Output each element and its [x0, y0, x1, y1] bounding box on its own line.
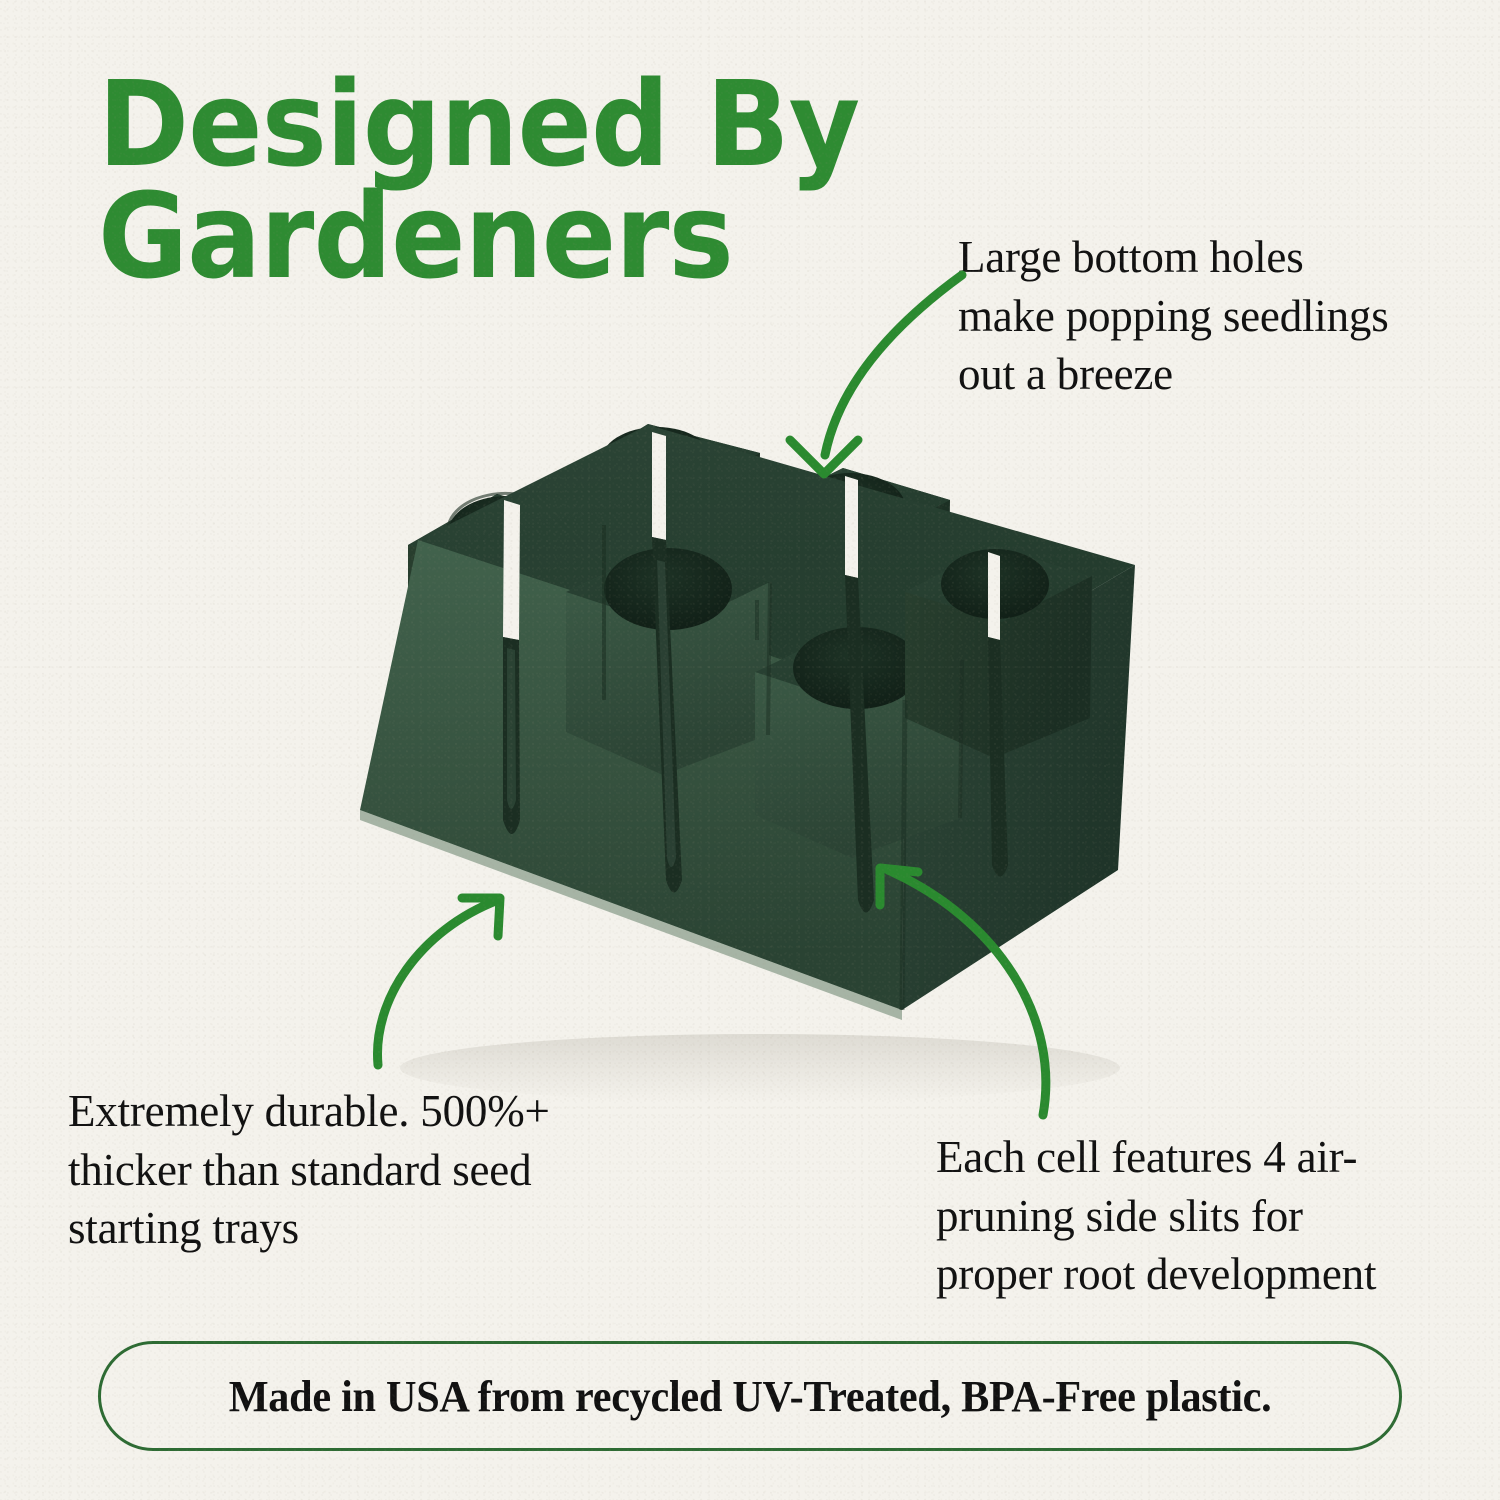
arrow-to-side-slit-shaft [888, 870, 1046, 1115]
infographic-canvas: Designed By Gardeners Large bottom holes… [0, 0, 1500, 1500]
annotation-arrows [0, 0, 1500, 1500]
arrow-to-bottom-hole-shaft [825, 275, 962, 455]
arrow-to-tray-wall-shaft [377, 900, 498, 1065]
